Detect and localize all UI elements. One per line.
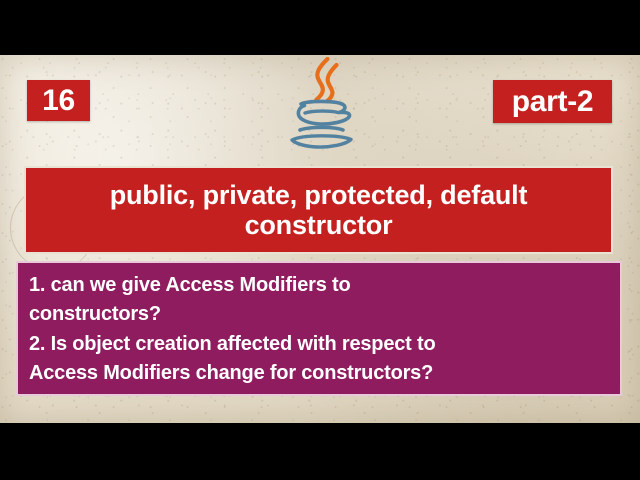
question-line: 2. Is object creation affected with resp… <box>29 330 610 359</box>
question-line: constructors? <box>29 300 610 329</box>
question-line: Access Modifiers change for constructors… <box>29 359 610 388</box>
letterbox-top <box>0 0 640 55</box>
question-line: 1. can we give Access Modifiers to <box>29 271 610 300</box>
slide-container: 16 part-2 public, private, protected, de… <box>0 0 640 480</box>
question-panel: 1. can we give Access Modifiers to const… <box>16 261 622 396</box>
lesson-number-badge: 16 <box>27 80 90 121</box>
part-badge: part-2 <box>493 80 612 123</box>
page-title: public, private, protected, default cons… <box>26 180 611 240</box>
letterbox-bottom <box>0 423 640 480</box>
java-logo <box>286 57 358 150</box>
title-banner: public, private, protected, default cons… <box>24 166 613 254</box>
